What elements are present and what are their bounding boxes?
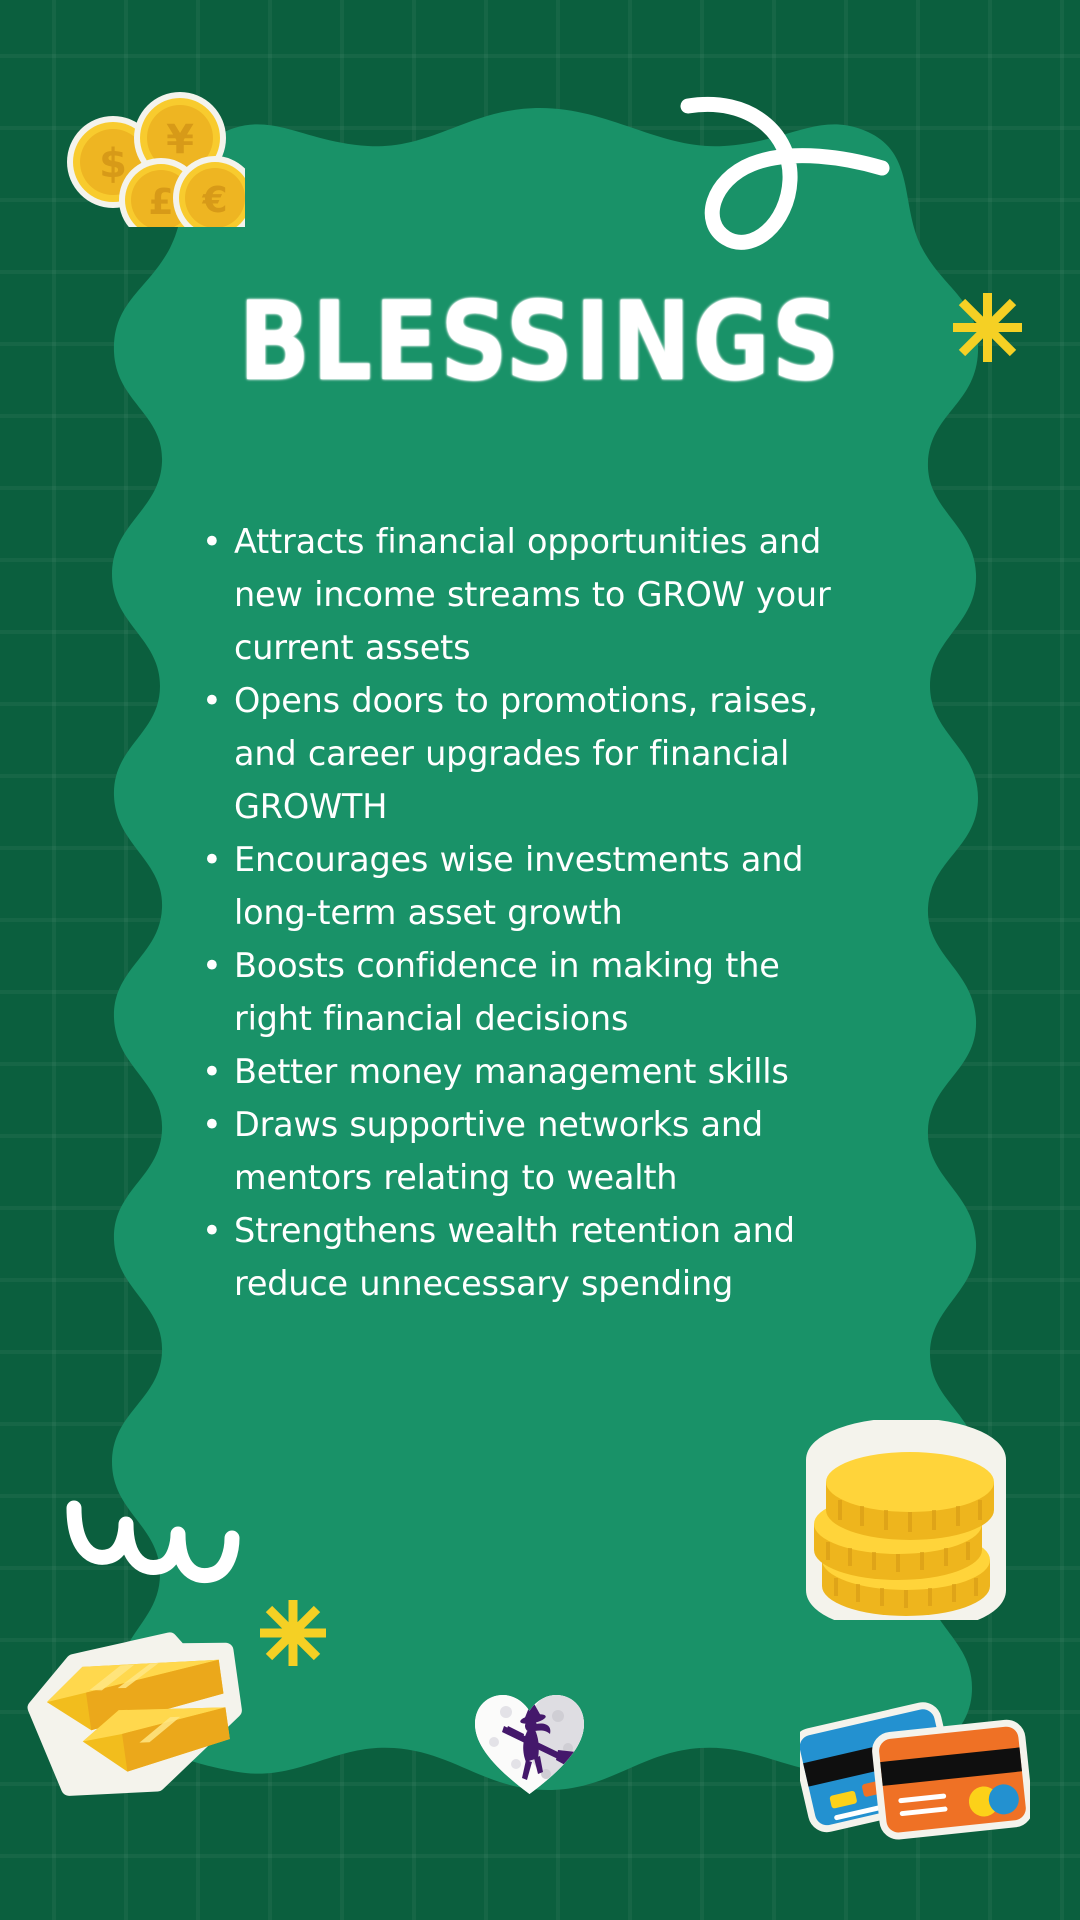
coin-stack-icon — [800, 1420, 1010, 1620]
list-item: •Better money management skills — [196, 1045, 836, 1098]
list-item: •Boosts confidence in making the right f… — [196, 939, 836, 1045]
loop-squiggle-icon — [660, 88, 910, 278]
list-item: •Attracts financial opportunities and ne… — [196, 515, 836, 674]
list-item: •Opens doors to promotions, raises, and … — [196, 674, 836, 833]
bullet-dot-icon: • — [202, 833, 222, 886]
svg-text:¥: ¥ — [166, 117, 194, 163]
heart-witch-icon — [472, 1690, 587, 1800]
bullet-dot-icon: • — [202, 1204, 222, 1257]
svg-text:€: € — [201, 180, 227, 221]
list-item-label: Better money management skills — [234, 1052, 789, 1091]
bullet-dot-icon: • — [202, 1098, 222, 1151]
sparkle-icon-top-right — [950, 290, 1025, 365]
page-title: BLESSINGS — [0, 288, 1080, 397]
bullet-dot-icon: • — [202, 1045, 222, 1098]
coins-cluster-icon: $ ¥ £ € — [55, 92, 245, 227]
list-item-label: Draws supportive networks and mentors re… — [234, 1105, 763, 1197]
svg-text:$: $ — [99, 141, 127, 187]
list-item: •Encourages wise investments and long-te… — [196, 833, 836, 939]
list-item-label: Strengthens wealth retention and reduce … — [234, 1211, 795, 1303]
bullet-dot-icon: • — [202, 674, 222, 727]
svg-text:£: £ — [148, 182, 173, 223]
list-item: •Draws supportive networks and mentors r… — [196, 1098, 836, 1204]
sparkle-icon-bottom-left — [258, 1598, 328, 1668]
list-item-label: Attracts financial opportunities and new… — [234, 522, 831, 667]
list-item-label: Encourages wise investments and long-ter… — [234, 840, 803, 932]
list-item-label: Opens doors to promotions, raises, and c… — [234, 681, 818, 826]
bullet-dot-icon: • — [202, 939, 222, 992]
wave-squiggle-icon — [62, 1500, 252, 1590]
list-item: •Strengthens wealth retention and reduce… — [196, 1204, 836, 1310]
blessings-list: •Attracts financial opportunities and ne… — [196, 515, 836, 1310]
bullet-dot-icon: • — [202, 515, 222, 568]
list-item-label: Boosts confidence in making the right fi… — [234, 946, 780, 1038]
gold-bars-icon — [20, 1628, 250, 1808]
credit-cards-icon — [800, 1690, 1030, 1870]
